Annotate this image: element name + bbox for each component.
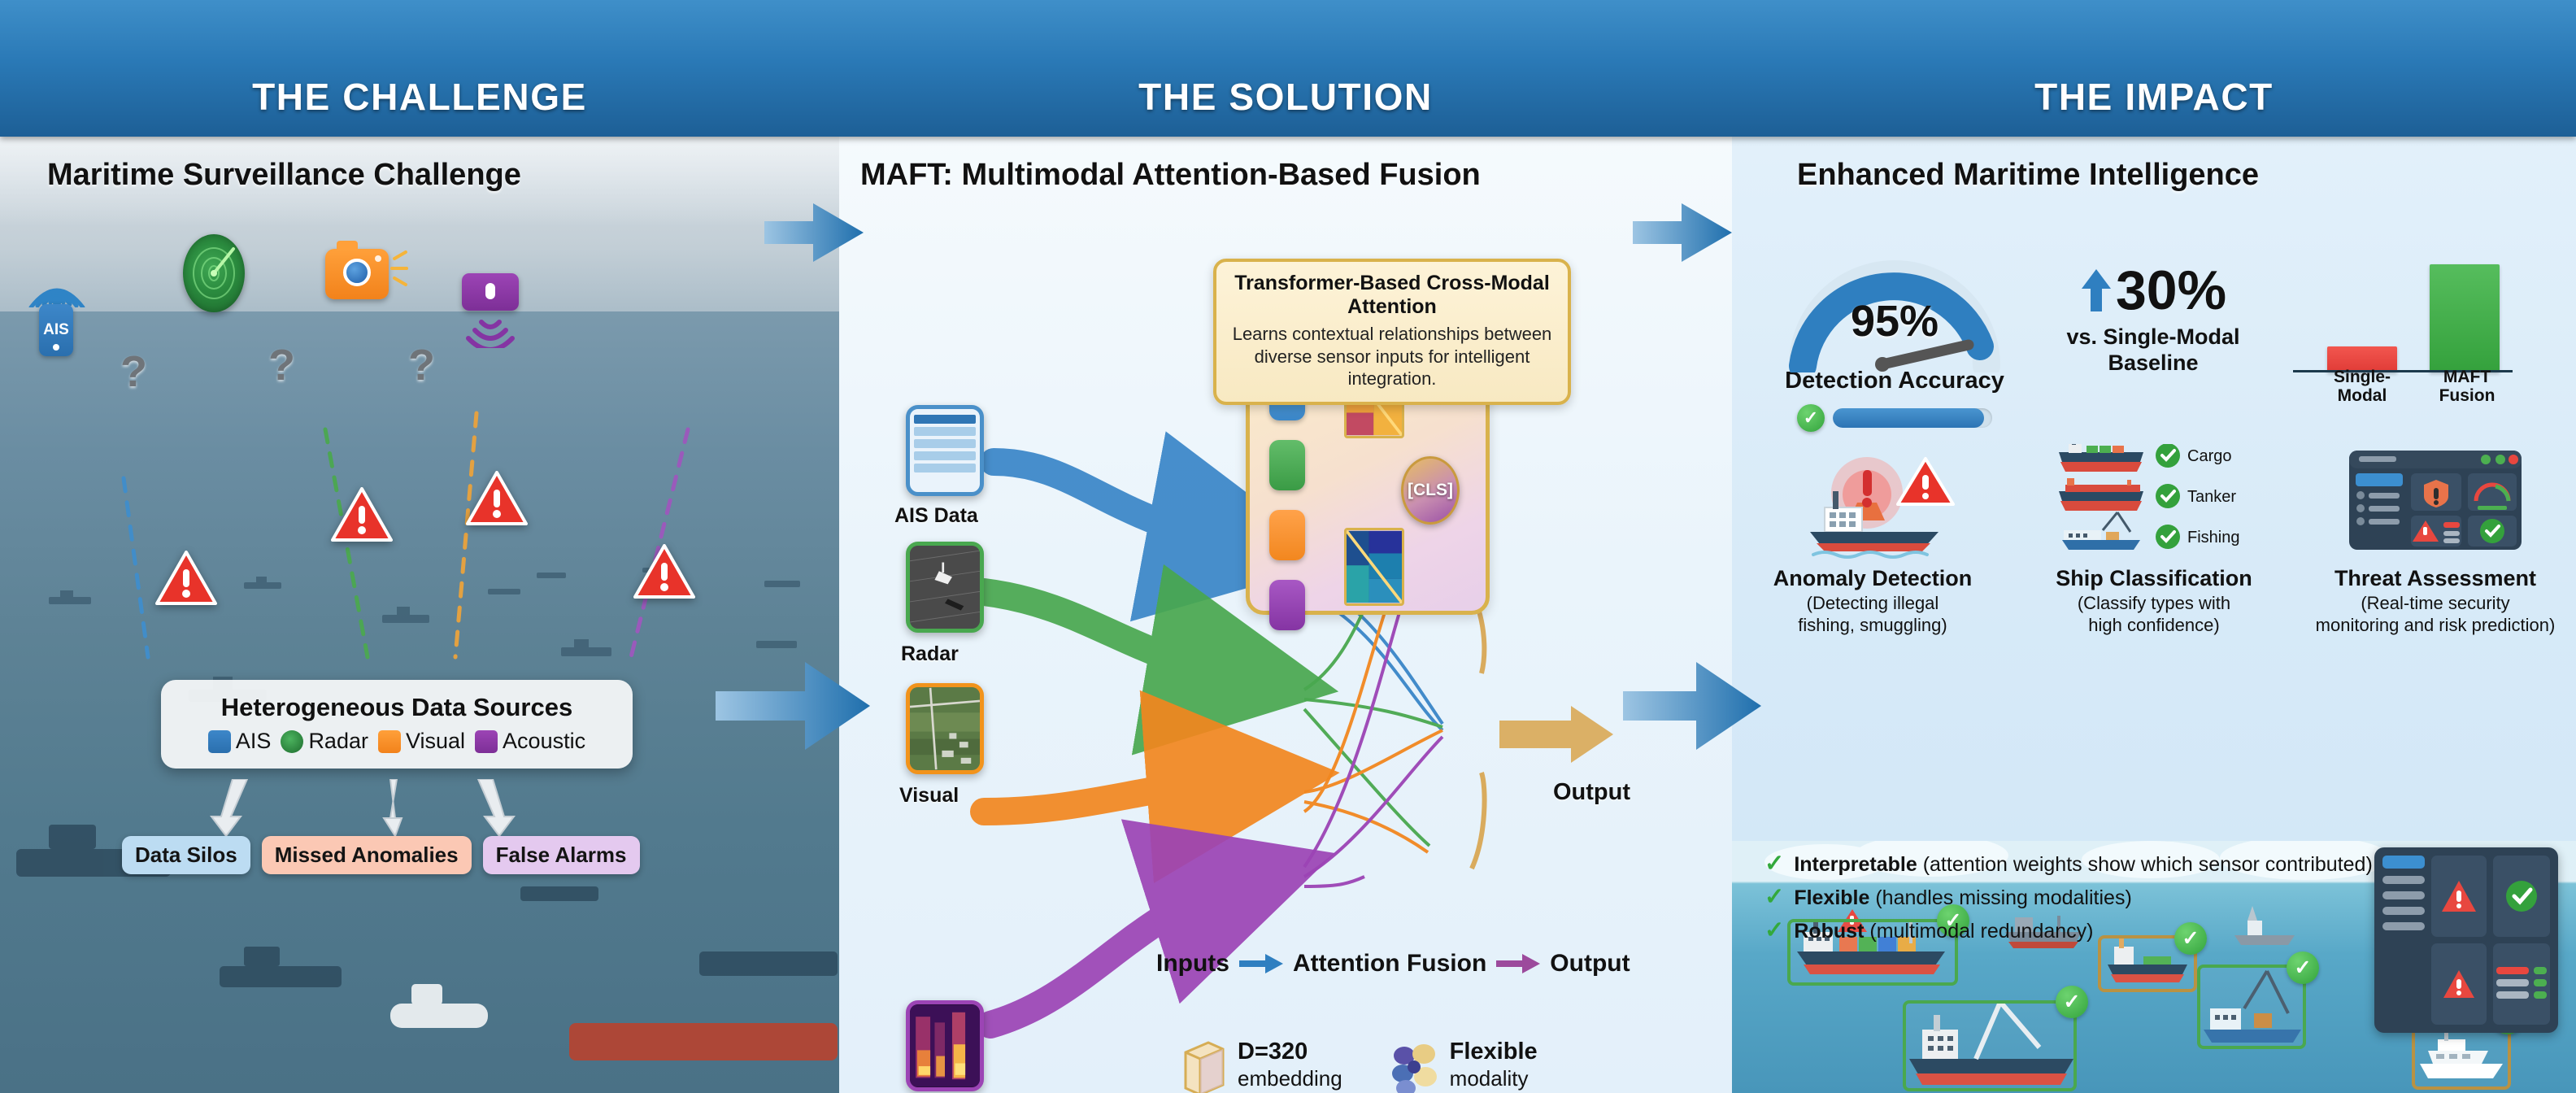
capability-ship-classification: Cargo Tanker Fishing Ship Classification… (2013, 446, 2295, 637)
ship-types-glyph: Cargo Tanker Fishing (2052, 444, 2256, 560)
modality-tile-acoustic (906, 1000, 984, 1091)
flow-arrow-blue-icon (1239, 954, 1283, 973)
header-label-challenge: THE CHALLENGE (252, 75, 587, 119)
warning-triangle-3 (465, 470, 529, 531)
check-icon: ✓ (1797, 404, 1825, 432)
satellite-image-glyph (910, 687, 980, 770)
het-item-acoustic: Acoustic (475, 729, 585, 754)
feature-title-embedding: D=320 (1238, 1038, 1342, 1066)
ship-class-label-tanker: Tanker (2187, 488, 2236, 506)
check-icon-robust: ✓ (1764, 919, 1784, 943)
cls-token-node: [CLS] (1401, 456, 1460, 525)
warning-triangle-4 (633, 543, 696, 604)
sensor-icon-row: AIS ? ? (0, 226, 839, 389)
output-label: Output (1553, 779, 1630, 806)
capability-desc-anomaly-l2: fishing, smuggling) (1798, 615, 1947, 635)
capability-desc-class-l1: (Classify types with (2078, 593, 2230, 613)
problem-chip-missed-anomalies: Missed Anomalies (262, 836, 472, 874)
ship-class-label-fishing: Fishing (2187, 529, 2239, 546)
capability-title-threat: Threat Assessment (2301, 566, 2569, 591)
bar-label-text-0: Single-Modal (2334, 368, 2391, 405)
radar-dish-glyph (183, 234, 245, 312)
dashboard-nav-4 (2382, 922, 2425, 930)
panel-challenge: Maritime Surveillance Challenge (0, 137, 839, 1093)
dashboard-sidebar (2382, 856, 2425, 1025)
ais-icon (208, 730, 231, 753)
benefit-rest-flexible: (handles missing modalities) (1875, 886, 2131, 909)
ship-alert-glyph (1786, 452, 1960, 560)
ais-wave-glyph (23, 268, 91, 307)
het-item-label-visual: Visual (406, 729, 465, 754)
benefit-bold-flexible: Flexible (1794, 886, 1869, 909)
benefit-robust: ✓ Robust (multimodal redundancy) (1764, 919, 2373, 943)
feature-line1-dropout: modality (1450, 1066, 1529, 1091)
up-arrow-icon (2080, 268, 2113, 313)
benefit-bullets: ✓ Interpretable (attention weights show … (1764, 852, 2373, 952)
problem-chip-row: Data Silos Missed Anomalies False Alarms (122, 836, 683, 874)
accuracy-progress-bar (1833, 408, 1992, 428)
panel-impact: Enhanced Maritime Intelligence 95% Detec… (1732, 137, 2576, 1093)
ais-sensor-icon: AIS (39, 304, 73, 356)
capability-title-anomaly: Anomaly Detection (1738, 566, 2007, 591)
camera-flash-rays-icon (390, 254, 410, 286)
detection-check-4: ✓ (2287, 951, 2319, 984)
challenge-panel-title: Maritime Surveillance Challenge (0, 158, 839, 193)
acoustic-icon (475, 730, 498, 753)
camera-lens-icon (343, 259, 371, 286)
bar-label-text-1: MAFT Fusion (2439, 368, 2495, 405)
problem-chip-false-alarms: False Alarms (483, 836, 640, 874)
camera-sensor-icon (325, 249, 389, 299)
uplift-caption: vs. Single-Modal Baseline (2039, 324, 2267, 377)
benefit-bold-robust: Robust (1794, 920, 1864, 943)
ais-tag: AIS (39, 304, 73, 356)
alert-triangle-icon-2 (2442, 969, 2476, 999)
security-dashboard-panel (2374, 847, 2558, 1033)
gauge-value: 95% (1785, 296, 2004, 346)
het-item-label-radar: Radar (308, 729, 368, 754)
het-item-label-ais: AIS (236, 729, 272, 754)
acoustic-wave-glyph (465, 314, 516, 348)
radar-icon (281, 730, 303, 753)
impact-panel-title: Enhanced Maritime Intelligence (1732, 158, 2576, 193)
acoustic-sensor-icon (462, 273, 519, 311)
feature-line1-embedding: embedding (1238, 1066, 1342, 1091)
uplift-caption-line2: Baseline (2108, 351, 2198, 375)
bar-label-maft-fusion: MAFT Fusion (2422, 368, 2513, 405)
attention-heatmap-bottom (1344, 528, 1404, 606)
uplift-value: 30% (2116, 259, 2226, 322)
detection-box-3 (1903, 1000, 2077, 1091)
het-card-items: AIS Radar Visual Acoustic (172, 729, 621, 754)
ship-types-icon: Cargo Tanker Fishing (2020, 446, 2288, 560)
flow-arrow-purple-icon (1496, 954, 1540, 973)
het-item-label-acoustic: Acoustic (503, 729, 585, 754)
bar-maft-fusion (2430, 264, 2500, 372)
radar-image-glyph (910, 546, 980, 629)
dashboard-cell-alert2 (2431, 943, 2487, 1025)
capability-threat-assessment: Threat Assessment (Real-time security mo… (2295, 446, 2576, 637)
capability-desc-class-l2: high confidence) (2088, 615, 2219, 635)
modality-tile-ais (906, 405, 984, 496)
token-acoustic (1269, 580, 1305, 630)
cube-icon (1181, 1038, 1228, 1093)
flow-legend-output: Output (1550, 950, 1630, 978)
warning-triangle-2 (330, 486, 394, 547)
uplift-value-row: 30% (2039, 259, 2267, 322)
comparison-bar-chart: Single-Modal MAFT Fusion (2293, 250, 2513, 405)
dashboard-nav-1 (2382, 876, 2425, 884)
dashboard-cell-ok (2493, 856, 2550, 937)
check-icon-interpretable: ✓ (1764, 852, 1784, 876)
panels-row: Maritime Surveillance Challenge (0, 137, 2576, 1093)
capability-title-classification: Ship Classification (2020, 566, 2288, 591)
uplift-metric: 30% vs. Single-Modal Baseline (2039, 259, 2267, 377)
camera-flash-dot-icon (375, 255, 381, 262)
detection-accuracy-gauge: 95% Detection Accuracy ✓ (1773, 250, 2017, 432)
solution-panel-title: MAFT: Multimodal Attention-Based Fusion (839, 158, 1732, 193)
problem-chip-data-silos: Data Silos (122, 836, 250, 874)
flow-legend: Inputs Attention Fusion Output (1156, 950, 1630, 978)
chart-bars (2293, 254, 2513, 372)
radar-sensor-icon (183, 234, 245, 312)
ais-tag-label: AIS (43, 321, 69, 339)
modality-label-ais: AIS Data (894, 504, 978, 528)
capability-row: Anomaly Detection (Detecting illegal fis… (1732, 446, 2576, 637)
het-item-visual: Visual (378, 729, 465, 754)
token-radar (1269, 440, 1305, 490)
transformer-note-card: Transformer-Based Cross-Modal Attention … (1213, 259, 1571, 405)
camera-icon (378, 730, 401, 753)
header-label-solution: THE SOLUTION (1138, 75, 1433, 119)
header-section-challenge: THE CHALLENGE (0, 0, 839, 137)
dropout-icon (1388, 1038, 1440, 1093)
check-icon-flexible: ✓ (1764, 886, 1784, 909)
camera-glyph (325, 249, 389, 299)
flow-legend-fusion: Attention Fusion (1293, 950, 1486, 978)
solution-feature-row: D=320 embedding space (1181, 1038, 1538, 1093)
feature-title-dropout: Flexible (1450, 1038, 1538, 1066)
het-card-title: Heterogeneous Data Sources (172, 693, 621, 722)
benefit-bold-interpretable: Interpretable (1794, 853, 1917, 876)
infographic-poster: THE CHALLENGE THE SOLUTION THE IMPACT (0, 0, 2576, 1093)
header-band: THE CHALLENGE THE SOLUTION THE IMPACT (0, 0, 2576, 137)
transformer-note-body: Learns contextual relationships between … (1228, 323, 1556, 390)
het-item-radar: Radar (281, 729, 368, 754)
question-mark-3: ? (408, 340, 435, 390)
dashboard-nav-3 (2382, 907, 2425, 915)
warning-triangle-1 (154, 550, 218, 611)
ais-data-glyph (910, 409, 980, 478)
ship-alert-icon (1738, 446, 2007, 560)
capability-desc-classification: (Classify types with high confidence) (2020, 593, 2288, 637)
capability-desc-anomaly: (Detecting illegal fishing, smuggling) (1738, 593, 2007, 637)
het-item-ais: AIS (208, 729, 272, 754)
question-mark-2: ? (268, 340, 295, 390)
capability-desc-threat-l1: (Real-time security (2361, 593, 2509, 613)
bar-label-single-modal: Single-Modal (2314, 368, 2410, 405)
modality-label-radar: Radar (901, 642, 959, 666)
alert-triangle-icon (2440, 879, 2478, 913)
heterogeneous-data-sources-card: Heterogeneous Data Sources AIS Radar Vis… (161, 680, 633, 769)
modality-tile-radar (906, 542, 984, 633)
modality-tile-visual (906, 683, 984, 774)
feature-modality-dropout: Flexible modality dropout (1388, 1038, 1538, 1093)
security-dashboard-icon (2301, 446, 2569, 560)
uplift-caption-line1: vs. Single-Modal (2066, 324, 2239, 349)
radar-sweep-glyph (183, 234, 245, 312)
heatmap-bottom-glyph (1347, 530, 1402, 603)
token-visual (1269, 510, 1305, 560)
problem-down-arrows (161, 779, 633, 843)
security-dashboard-glyph (2346, 446, 2525, 560)
benefit-rest-robust: (multimodal redundancy) (1869, 920, 2093, 943)
detection-check-3: ✓ (2056, 986, 2088, 1018)
check-circle-icon (2504, 878, 2539, 914)
capability-desc-anomaly-l1: (Detecting illegal (1807, 593, 1939, 613)
flow-legend-inputs: Inputs (1156, 950, 1229, 978)
capability-anomaly-detection: Anomaly Detection (Detecting illegal fis… (1732, 446, 2013, 637)
spectrogram-glyph (910, 1004, 980, 1087)
status-bars-icon (2493, 964, 2550, 1004)
header-section-solution: THE SOLUTION (839, 0, 1732, 137)
dashboard-nav-2 (2382, 891, 2425, 899)
acoustic-glyph (462, 273, 519, 311)
dashboard-nav-active (2382, 856, 2425, 869)
benefit-flexible: ✓ Flexible (handles missing modalities) (1764, 886, 2373, 910)
transformer-note-heading: Transformer-Based Cross-Modal Attention (1228, 272, 1556, 319)
question-mark-1: ? (120, 346, 147, 397)
capability-desc-threat-l2: monitoring and risk prediction) (2316, 615, 2556, 635)
panel-solution: MAFT: Multimodal Attention-Based Fusion (839, 137, 1732, 1093)
feature-embedding-space: D=320 embedding space (1181, 1038, 1342, 1093)
header-label-impact: THE IMPACT (2034, 75, 2274, 119)
dashboard-cell-alert (2431, 856, 2487, 937)
ship-class-label-cargo: Cargo (2187, 447, 2231, 465)
capability-desc-threat: (Real-time security monitoring and risk … (2301, 593, 2569, 637)
gauge-dial: 95% (1785, 250, 2004, 372)
header-section-impact: THE IMPACT (1732, 0, 2576, 137)
dashboard-cell-status (2493, 943, 2550, 1025)
benefit-interpretable: ✓ Interpretable (attention weights show … (1764, 852, 2373, 877)
dashboard-grid (2431, 856, 2550, 1025)
accuracy-progress-row: ✓ (1773, 404, 2017, 432)
benefit-rest-interpretable: (attention weights show which sensor con… (1923, 853, 2373, 876)
modality-label-visual: Visual (899, 784, 959, 808)
